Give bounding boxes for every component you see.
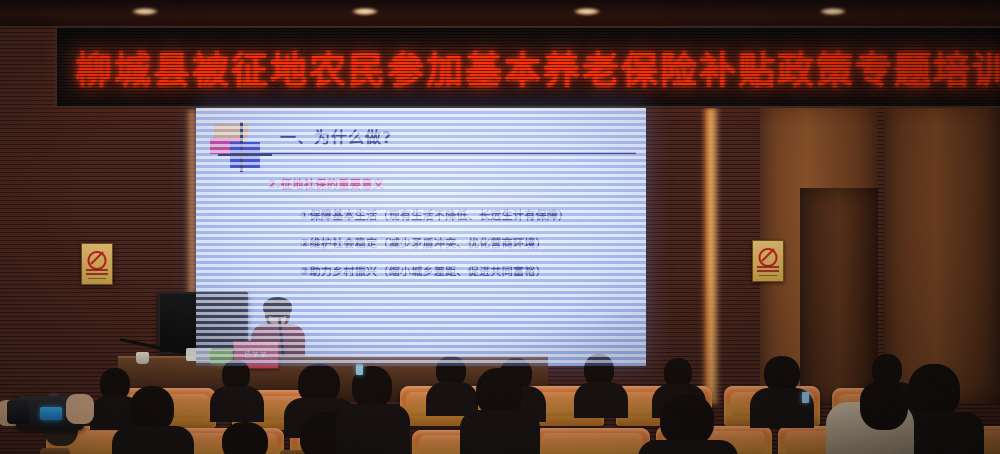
projection-screen: 一、为什么做? 2.征地社保的重要意义 ①保障基本生活（现有生活不降低、长远生计… <box>196 108 646 366</box>
no-smoking-right-circle <box>759 248 778 267</box>
slide-bullet-2-marker: ② <box>300 237 310 250</box>
audience-shoulders <box>336 404 410 454</box>
downlight-icon-4 <box>820 8 846 15</box>
slide-bullet-3-detail: （缩小城乡差距、促进共同富裕） <box>377 265 547 278</box>
slide-bullet-1: ①保障基本生活（现有生活不降低、长远生计有保障） <box>300 207 570 223</box>
downlight-icon-1 <box>132 8 158 15</box>
downlight-icon-2 <box>352 8 378 15</box>
slide-bullet-1-heading: 保障基本生活 <box>310 209 378 222</box>
no-smoking-right-text-3 <box>759 275 777 276</box>
audience-area <box>0 352 1000 454</box>
no-smoking-left-text-3 <box>88 278 106 279</box>
audience-head <box>908 364 960 418</box>
audience-shoulders <box>210 386 264 422</box>
camera-lcd-screen <box>40 407 62 420</box>
no-smoking-icon-left <box>81 243 113 285</box>
no-smoking-left-circle <box>88 251 107 270</box>
slide-bullet-1-detail: （现有生活不降低、长远生计有保障） <box>377 209 569 222</box>
slide-bullet-1-marker: ① <box>300 209 310 222</box>
slide-bullet-3-marker: ③ <box>300 265 310 278</box>
no-smoking-icon-right <box>752 240 784 282</box>
audience-shoulders <box>112 426 194 454</box>
conference-photo-scene: 柳城县被征地农民参加基本养老保险补贴政策专题培训会 一、为什么做? 2.征地社保… <box>0 0 1000 454</box>
downlight-icon-3 <box>574 8 600 15</box>
no-smoking-left-text-1 <box>86 269 108 271</box>
slide-bullet-3-heading: 助力乡村振兴 <box>310 265 378 278</box>
audience-head <box>222 422 268 454</box>
motif-horizontal-line <box>218 154 272 156</box>
led-banner-text: 柳城县被征地农民参加基本养老保险补贴政策专题培训会 <box>75 40 991 94</box>
motif-vertical-line <box>240 122 243 172</box>
led-banner: 柳城县被征地农民参加基本养老保险补贴政策专题培训会 <box>55 26 1000 108</box>
audience-shoulders <box>574 382 628 418</box>
audience-head <box>860 380 908 430</box>
photographer-right-hand <box>66 394 94 424</box>
audience-head <box>476 368 522 416</box>
slide-bullet-2: ②维护社会稳定（减少矛盾冲突、优化营商环境） <box>300 235 547 251</box>
slide-bullet-2-heading: 维护社会稳定 <box>310 237 378 250</box>
slide-bullet-3: ③助力乡村振兴（缩小城乡差距、促进共同富裕） <box>300 263 547 279</box>
slide-title-rule <box>232 152 636 154</box>
no-smoking-right-text-2 <box>757 270 779 272</box>
seat-front-5 <box>534 428 650 454</box>
audience-head <box>660 394 714 446</box>
slide-subtitle: 2.征地社保的重要意义 <box>268 176 384 192</box>
slide-bullet-2-detail: （减少矛盾冲突、优化营商环境） <box>377 237 547 250</box>
audience-shoulders <box>638 440 738 454</box>
photographer <box>0 384 114 454</box>
phone-screen-glint-3 <box>802 392 809 403</box>
audience-shoulders <box>460 410 540 454</box>
no-smoking-right-text-1 <box>757 266 779 268</box>
no-smoking-left-text-2 <box>86 273 108 275</box>
presentation-slide: 一、为什么做? 2.征地社保的重要意义 ①保障基本生活（现有生活不降低、长远生计… <box>196 108 646 366</box>
camera-lens <box>7 400 29 424</box>
audience-head <box>764 356 800 392</box>
slide-title: 一、为什么做? <box>280 124 392 148</box>
slide-decorative-motif <box>210 122 272 172</box>
